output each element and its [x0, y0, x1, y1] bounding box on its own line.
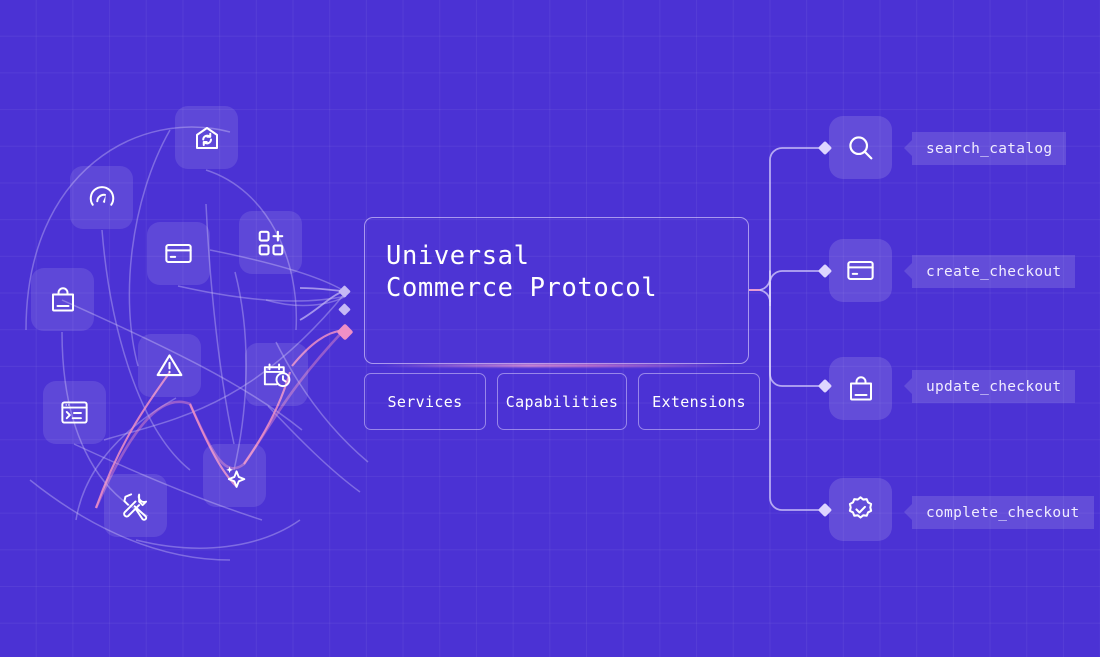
branch-diamond [818, 141, 832, 517]
endpoint-label-update-checkout[interactable]: update_checkout [912, 370, 1075, 403]
panel-tabs: Services Capabilities Extensions [364, 373, 749, 430]
page-title: Universal Commerce Protocol [386, 240, 657, 304]
endpoint-label-complete-checkout[interactable]: complete_checkout [912, 496, 1094, 529]
tab-capabilities[interactable]: Capabilities [497, 373, 627, 430]
endpoint-label-create-checkout[interactable]: create_checkout [912, 255, 1075, 288]
diagram-canvas: Universal Commerce Protocol Services Cap… [0, 0, 1100, 657]
panel-glow-divider [380, 364, 732, 367]
tab-services[interactable]: Services [364, 373, 486, 430]
center-panel: Universal Commerce Protocol [364, 217, 749, 364]
tab-extensions[interactable]: Extensions [638, 373, 760, 430]
endpoint-label-search-catalog[interactable]: search_catalog [912, 132, 1066, 165]
